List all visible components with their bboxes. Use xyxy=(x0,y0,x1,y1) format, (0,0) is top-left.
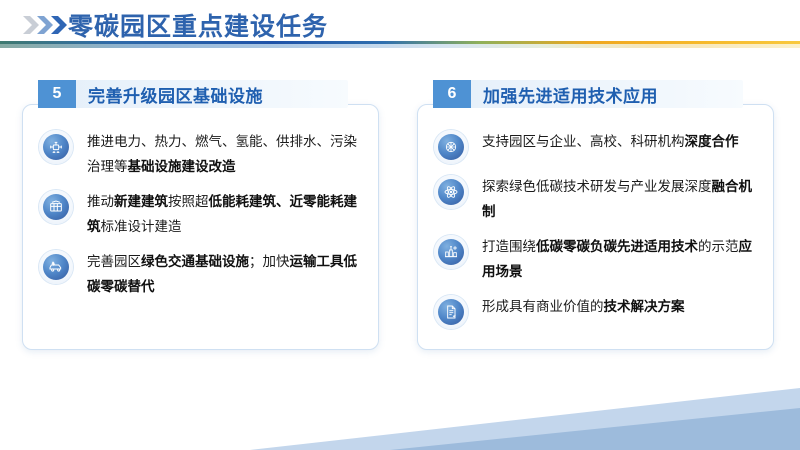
list-item-text: 推动新建建筑按照超低能耗建筑、近零能耗建筑标准设计建造 xyxy=(87,189,364,239)
task-card-6: 支持园区与企业、高校、科研机构深度合作 探索绿色低碳技术研发与产业发展深度融合机… xyxy=(417,104,774,350)
list-item-text: 形成具有商业价值的技术解决方案 xyxy=(482,294,685,319)
list-item[interactable]: 打造围绕低碳零碳负碳先进适用技术的示范应用场景 xyxy=(418,234,773,284)
task-list-6: 支持园区与企业、高校、科研机构深度合作 探索绿色低碳技术研发与产业发展深度融合机… xyxy=(418,129,773,339)
slide-header: 零碳园区重点建设任务 xyxy=(0,0,800,52)
list-item-text: 支持园区与企业、高校、科研机构深度合作 xyxy=(482,129,739,154)
card-6-number-badge: 6 xyxy=(433,80,471,108)
network-collaboration-icon xyxy=(434,130,468,164)
triple-chevron-right-icon xyxy=(22,13,74,37)
building-blueprint-icon xyxy=(39,190,73,224)
list-item-text: 打造围绕低碳零碳负碳先进适用技术的示范应用场景 xyxy=(482,234,759,284)
card-5-number-badge: 5 xyxy=(38,80,76,108)
document-check-icon xyxy=(434,295,468,329)
card-6-title: 加强先进适用技术应用 xyxy=(483,80,658,108)
list-item[interactable]: 完善园区绿色交通基础设施；加快运输工具低碳零碳替代 xyxy=(23,249,378,299)
factory-pipe-icon xyxy=(39,130,73,164)
bottom-decoration xyxy=(0,380,800,450)
task-list-5: 推进电力、热力、燃气、氢能、供排水、污染治理等基础设施建设改造 推动新建建筑按照… xyxy=(23,129,378,309)
header-divider xyxy=(0,41,800,49)
atom-research-icon xyxy=(434,175,468,209)
industrial-scene-icon xyxy=(434,235,468,269)
card-5-title: 完善升级园区基础设施 xyxy=(88,80,263,108)
electric-car-icon xyxy=(39,250,73,284)
list-item-text: 完善园区绿色交通基础设施；加快运输工具低碳零碳替代 xyxy=(87,249,364,299)
list-item-text: 推进电力、热力、燃气、氢能、供排水、污染治理等基础设施建设改造 xyxy=(87,129,364,179)
list-item[interactable]: 推动新建建筑按照超低能耗建筑、近零能耗建筑标准设计建造 xyxy=(23,189,378,239)
task-card-5: 推进电力、热力、燃气、氢能、供排水、污染治理等基础设施建设改造 推动新建建筑按照… xyxy=(22,104,379,350)
list-item[interactable]: 推进电力、热力、燃气、氢能、供排水、污染治理等基础设施建设改造 xyxy=(23,129,378,179)
list-item[interactable]: 形成具有商业价值的技术解决方案 xyxy=(418,294,773,329)
list-item[interactable]: 探索绿色低碳技术研发与产业发展深度融合机制 xyxy=(418,174,773,224)
list-item[interactable]: 支持园区与企业、高校、科研机构深度合作 xyxy=(418,129,773,164)
page-title: 零碳园区重点建设任务 xyxy=(68,7,328,43)
divider-line-secondary xyxy=(0,44,800,48)
list-item-text: 探索绿色低碳技术研发与产业发展深度融合机制 xyxy=(482,174,759,224)
